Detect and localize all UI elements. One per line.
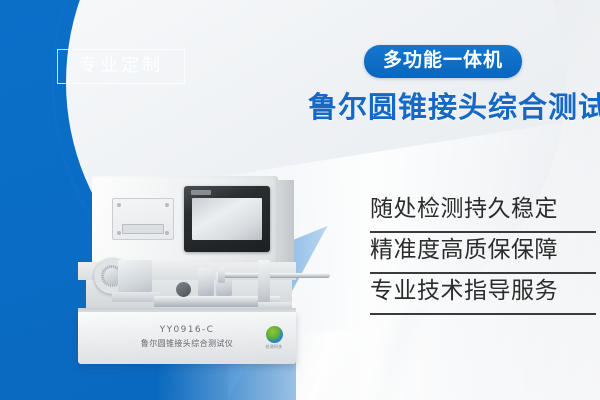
brand-logo: 检测科技 <box>264 326 284 352</box>
machine-drum-housing <box>118 260 152 292</box>
product-machine: YY0916-C 鲁尔圆锥接头综合测试仪 检测科技 <box>72 176 324 376</box>
feature-text: 专业技术指导服务 <box>370 274 596 313</box>
machine-body-side <box>278 180 294 262</box>
feature-item: 专业技术指导服务 <box>370 274 596 315</box>
hatch-screw-icon <box>165 203 169 207</box>
category-pill-label: 多功能一体机 <box>364 45 522 78</box>
hmi-brand-mark-icon <box>191 190 211 195</box>
machine-test-shaft <box>222 273 330 278</box>
machine-plinth: YY0916-C 鲁尔圆锥接头综合测试仪 检测科技 <box>78 312 296 364</box>
feature-item: 精准度高质保保障 <box>370 233 596 274</box>
machine-access-hatch <box>112 198 174 240</box>
machine-shaft-head <box>218 268 225 283</box>
machine-vertical-bracket <box>258 260 270 306</box>
feature-text: 随处检测持久稳定 <box>370 192 596 231</box>
brand-logo-caption: 检测科技 <box>264 345 284 349</box>
feature-text: 精准度高质保保障 <box>370 233 596 272</box>
headline-title: 鲁尔圆锥接头综合测试仪 <box>308 92 600 124</box>
feature-list: 随处检测持久稳定 精准度高质保保障 专业技术指导服务 <box>370 192 596 315</box>
hatch-screw-icon <box>165 231 169 235</box>
feature-divider <box>370 313 596 315</box>
product-banner: 专业定制 多功能一体机 鲁尔圆锥接头综合测试仪 随处检测持久稳定 精准度高质保保… <box>0 0 600 400</box>
brand-logo-icon <box>266 326 283 343</box>
hatch-screw-icon <box>117 231 121 235</box>
machine-adjust-knob[interactable] <box>176 282 191 297</box>
machine-drum-base <box>112 292 160 302</box>
custom-made-badge: 专业定制 <box>57 49 185 84</box>
machine-hmi-panel[interactable] <box>184 186 270 252</box>
machine-clamp-fixture <box>198 268 214 296</box>
feature-item: 随处检测持久稳定 <box>370 192 596 233</box>
hmi-touchscreen[interactable] <box>192 198 262 240</box>
hatch-screw-icon <box>117 203 121 207</box>
